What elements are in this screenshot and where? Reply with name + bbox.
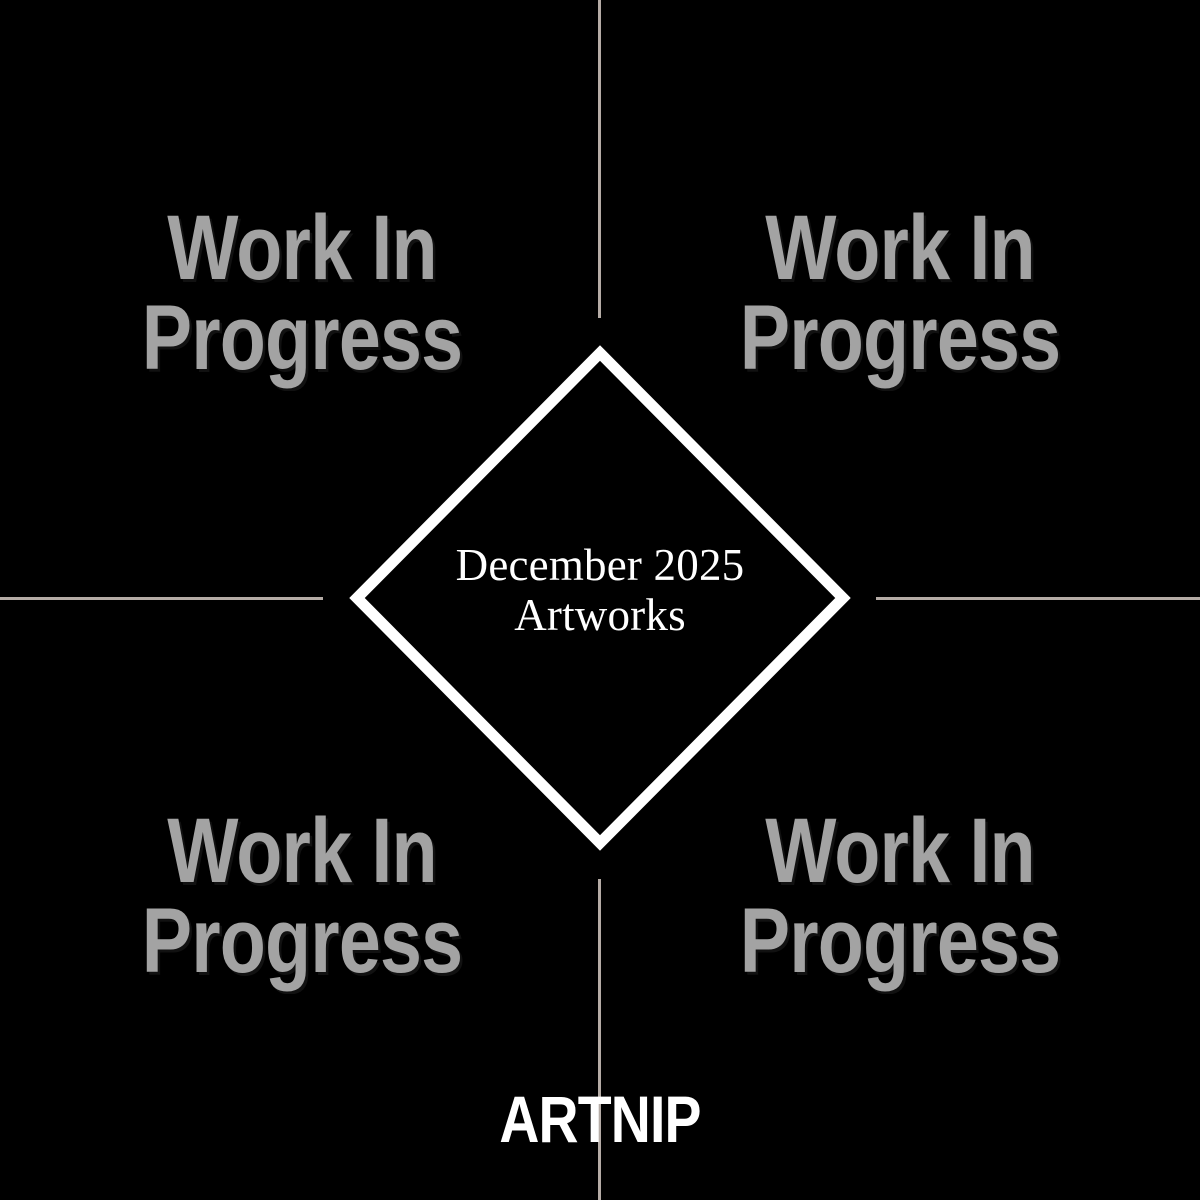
brand-wordmark: ARTNIP	[96, 1086, 1104, 1152]
placeholder-bottom-right-line1: Work In	[679, 806, 1122, 896]
placeholder-top-right-line2: Progress	[679, 293, 1122, 383]
center-title-line1: December 2025	[456, 540, 745, 590]
center-title-line2: Artworks	[380, 590, 820, 640]
placeholder-top-right-line1: Work In	[679, 203, 1122, 293]
divider-line-horizontal-right	[876, 597, 1200, 600]
divider-line-horizontal-left	[0, 597, 323, 600]
divider-line-vertical-top	[598, 0, 601, 318]
placeholder-bottom-right-line2: Progress	[679, 896, 1122, 986]
center-title: December 2025 Artworks	[380, 540, 820, 641]
placeholder-bottom-left: Work In Progress	[81, 806, 524, 986]
placeholder-top-left: Work In Progress	[81, 203, 524, 383]
placeholder-top-left-line1: Work In	[81, 203, 524, 293]
artwork-canvas: December 2025 Artworks Work In Progress …	[0, 0, 1200, 1200]
placeholder-bottom-right: Work In Progress	[679, 806, 1122, 986]
placeholder-bottom-left-line2: Progress	[81, 896, 524, 986]
placeholder-top-right: Work In Progress	[679, 203, 1122, 383]
placeholder-top-left-line2: Progress	[81, 293, 524, 383]
placeholder-bottom-left-line1: Work In	[81, 806, 524, 896]
